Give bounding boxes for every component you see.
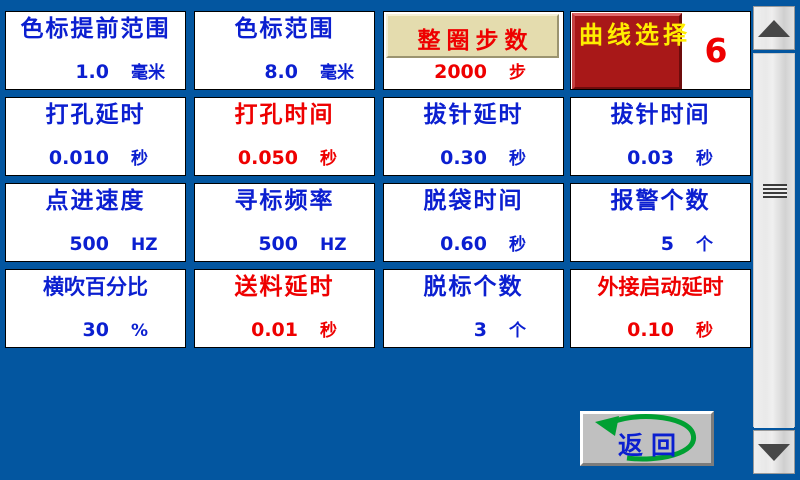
param-unit-0: 毫米 <box>109 58 177 83</box>
param-title-0: 色标提前范围 <box>6 15 185 43</box>
param-cell-11[interactable]: 报警个数 5个 <box>570 183 751 262</box>
param-cell-5[interactable]: 打孔时间 0.050秒 <box>194 97 375 176</box>
param-valuerow-14: 3个 <box>384 316 555 341</box>
param-title-14: 脱标个数 <box>384 273 563 301</box>
param-value-5[interactable]: 0.050 <box>238 147 298 169</box>
curve-select-button[interactable]: 曲线选择 <box>572 13 682 90</box>
param-cell-8[interactable]: 点进速度 500HZ <box>5 183 186 262</box>
scrollbar-track[interactable] <box>753 53 795 427</box>
triangle-up-icon <box>758 20 790 37</box>
param-cell-0[interactable]: 色标提前范围 1.0毫米 <box>5 11 186 90</box>
whole-circle-steps-plate[interactable]: 整圈步数 <box>386 14 559 58</box>
param-cell-7[interactable]: 拔针时间 0.03秒 <box>570 97 751 176</box>
param-valuerow-9: 500HZ <box>195 233 366 255</box>
param-cell-10[interactable]: 脱袋时间 0.60秒 <box>383 183 564 262</box>
param-value-12[interactable]: 30 <box>83 319 109 341</box>
param-valuerow-8: 500HZ <box>6 233 177 255</box>
param-title-3: 曲线选择 <box>575 20 679 51</box>
return-button[interactable]: 返回 <box>580 411 714 466</box>
param-unit-6: 秒 <box>487 144 555 169</box>
param-value-0[interactable]: 1.0 <box>75 61 109 83</box>
param-title-4: 打孔延时 <box>6 101 185 129</box>
param-unit-7: 秒 <box>674 144 742 169</box>
param-title-15: 外接启动延时 <box>571 273 750 301</box>
param-unit-1: 毫米 <box>298 58 366 83</box>
param-title-8: 点进速度 <box>6 187 185 215</box>
param-cell-1[interactable]: 色标范围 8.0毫米 <box>194 11 375 90</box>
param-unit-5: 秒 <box>298 144 366 169</box>
param-title-10: 脱袋时间 <box>384 187 563 215</box>
param-valuerow-5: 0.050秒 <box>195 144 366 169</box>
parameter-grid: 色标提前范围 1.0毫米 色标范围 8.0毫米 整圈步数 2000步 曲线选择 … <box>5 11 746 348</box>
return-button-label: 返回 <box>583 426 711 462</box>
param-cell-14[interactable]: 脱标个数 3个 <box>383 269 564 348</box>
param-cell-6[interactable]: 拔针延时 0.30秒 <box>383 97 564 176</box>
param-unit-4: 秒 <box>109 144 177 169</box>
param-value-14[interactable]: 3 <box>474 319 487 341</box>
param-title-2: 整圈步数 <box>388 21 557 55</box>
param-valuerow-6: 0.30秒 <box>384 144 555 169</box>
param-title-12: 横吹百分比 <box>6 273 185 301</box>
param-title-13: 送料延时 <box>195 273 374 301</box>
hmi-screen: 色标提前范围 1.0毫米 色标范围 8.0毫米 整圈步数 2000步 曲线选择 … <box>0 0 800 480</box>
param-value-11[interactable]: 5 <box>661 233 674 255</box>
param-cell-15[interactable]: 外接启动延时 0.10秒 <box>570 269 751 348</box>
param-value-7[interactable]: 0.03 <box>627 147 674 169</box>
param-unit-10: 秒 <box>487 230 555 255</box>
param-valuerow-11: 5个 <box>571 230 742 255</box>
param-title-11: 报警个数 <box>571 187 750 215</box>
param-cell-4[interactable]: 打孔延时 0.010秒 <box>5 97 186 176</box>
param-title-6: 拔针延时 <box>384 101 563 129</box>
param-cell-13[interactable]: 送料延时 0.01秒 <box>194 269 375 348</box>
param-unit-14: 个 <box>487 316 555 341</box>
param-value-13[interactable]: 0.01 <box>251 319 298 341</box>
param-title-7: 拔针时间 <box>571 101 750 129</box>
scroll-down-button[interactable] <box>753 430 795 474</box>
param-valuerow-15: 0.10秒 <box>571 316 742 341</box>
param-title-1: 色标范围 <box>195 15 374 43</box>
param-value-8[interactable]: 500 <box>69 233 109 255</box>
param-cell-12[interactable]: 横吹百分比 30% <box>5 269 186 348</box>
param-valuerow-12: 30% <box>6 319 177 341</box>
param-unit-15: 秒 <box>674 316 742 341</box>
param-value-15[interactable]: 0.10 <box>627 319 674 341</box>
param-value-1[interactable]: 8.0 <box>264 61 298 83</box>
param-cell-3[interactable]: 曲线选择 6 <box>570 11 751 90</box>
param-valuerow-0: 1.0毫米 <box>6 58 177 83</box>
param-title-5: 打孔时间 <box>195 101 374 129</box>
scroll-up-button[interactable] <box>753 6 795 50</box>
param-value-9[interactable]: 500 <box>258 233 298 255</box>
param-value-3[interactable]: 6 <box>682 12 750 89</box>
param-unit-8: HZ <box>109 235 177 255</box>
param-title-9: 寻标频率 <box>195 187 374 215</box>
scrollbar-thumb[interactable] <box>754 54 794 428</box>
grip-lines-icon <box>763 184 787 198</box>
param-value-4[interactable]: 0.010 <box>49 147 109 169</box>
param-cell-9[interactable]: 寻标频率 500HZ <box>194 183 375 262</box>
scrollbar[interactable] <box>753 6 795 474</box>
param-valuerow-4: 0.010秒 <box>6 144 177 169</box>
param-unit-11: 个 <box>674 230 742 255</box>
param-valuerow-13: 0.01秒 <box>195 316 366 341</box>
param-unit-9: HZ <box>298 235 366 255</box>
param-unit-13: 秒 <box>298 316 366 341</box>
param-valuerow-10: 0.60秒 <box>384 230 555 255</box>
param-valuerow-1: 8.0毫米 <box>195 58 366 83</box>
triangle-down-icon <box>758 444 790 461</box>
param-cell-2[interactable]: 整圈步数 2000步 <box>383 11 564 90</box>
param-valuerow-2: 2000步 <box>384 58 555 83</box>
param-valuerow-7: 0.03秒 <box>571 144 742 169</box>
param-value-2[interactable]: 2000 <box>434 61 487 83</box>
param-unit-2: 步 <box>487 58 555 83</box>
param-value-6[interactable]: 0.30 <box>440 147 487 169</box>
param-unit-12: % <box>109 321 177 341</box>
param-value-10[interactable]: 0.60 <box>440 233 487 255</box>
